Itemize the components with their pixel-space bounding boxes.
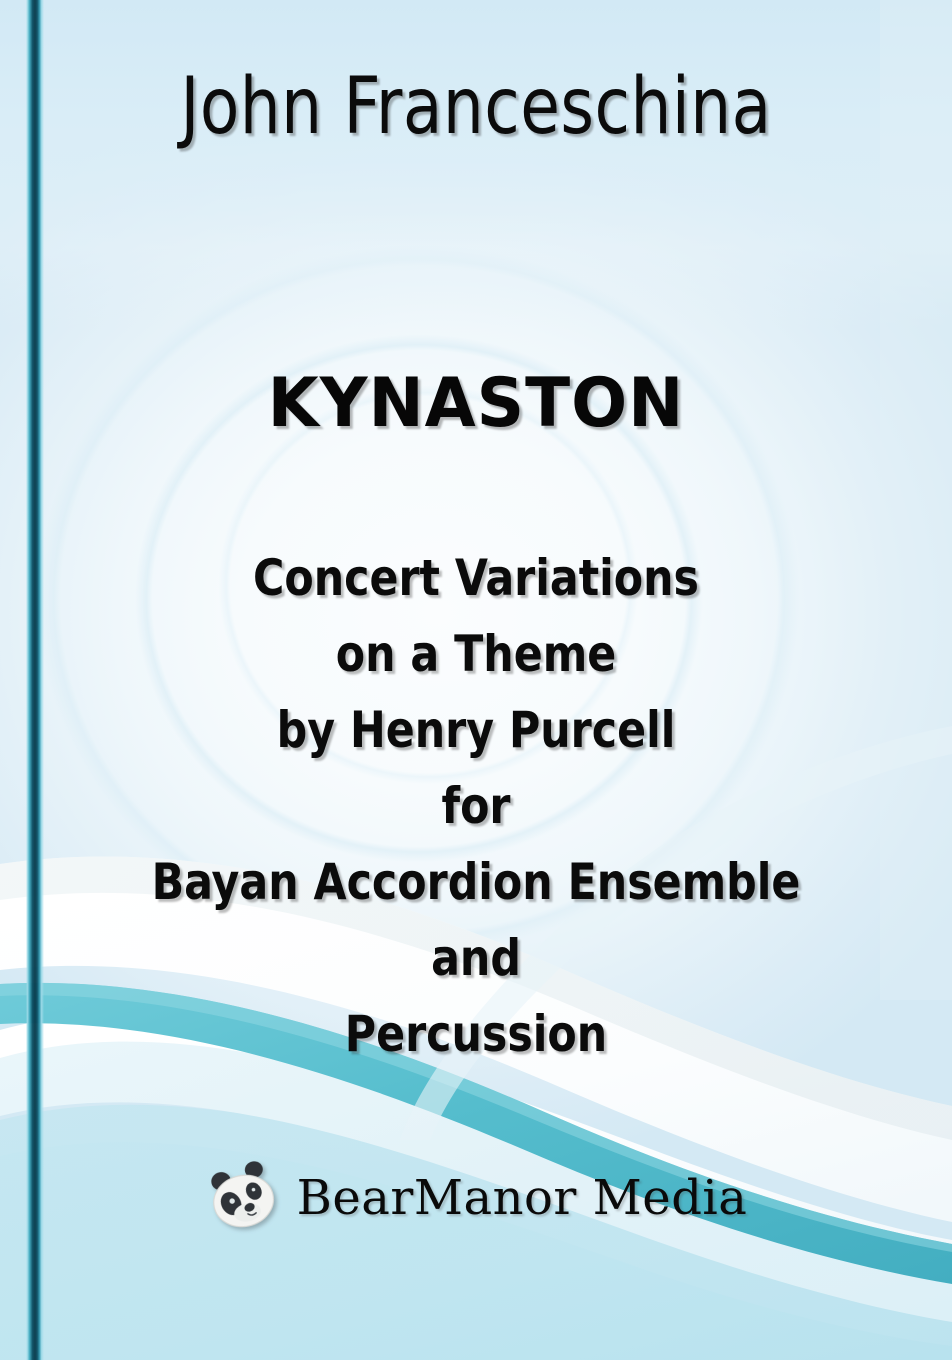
subtitle-line-5: Bayan Accordion Ensemble (24, 844, 928, 920)
subtitle-block: Concert Variations on a Theme by Henry P… (0, 540, 952, 1072)
publisher-block: BearManor Media (0, 1162, 952, 1234)
panda-head-icon (198, 1155, 287, 1241)
subtitle-line-7: Percussion (24, 996, 928, 1072)
book-cover: John Franceschina KYNASTON Concert Varia… (0, 0, 952, 1360)
subtitle-line-3: by Henry Purcell (24, 692, 928, 768)
subtitle-line-6: and (24, 920, 928, 996)
subtitle-line-4: for (24, 768, 928, 844)
subtitle-line-2: on a Theme (24, 616, 928, 692)
publisher-name: BearManor Media (297, 1170, 748, 1226)
subtitle-line-1: Concert Variations (24, 540, 928, 616)
book-title: KYNASTON (14, 364, 937, 443)
author-name: John Franceschina (38, 68, 914, 146)
